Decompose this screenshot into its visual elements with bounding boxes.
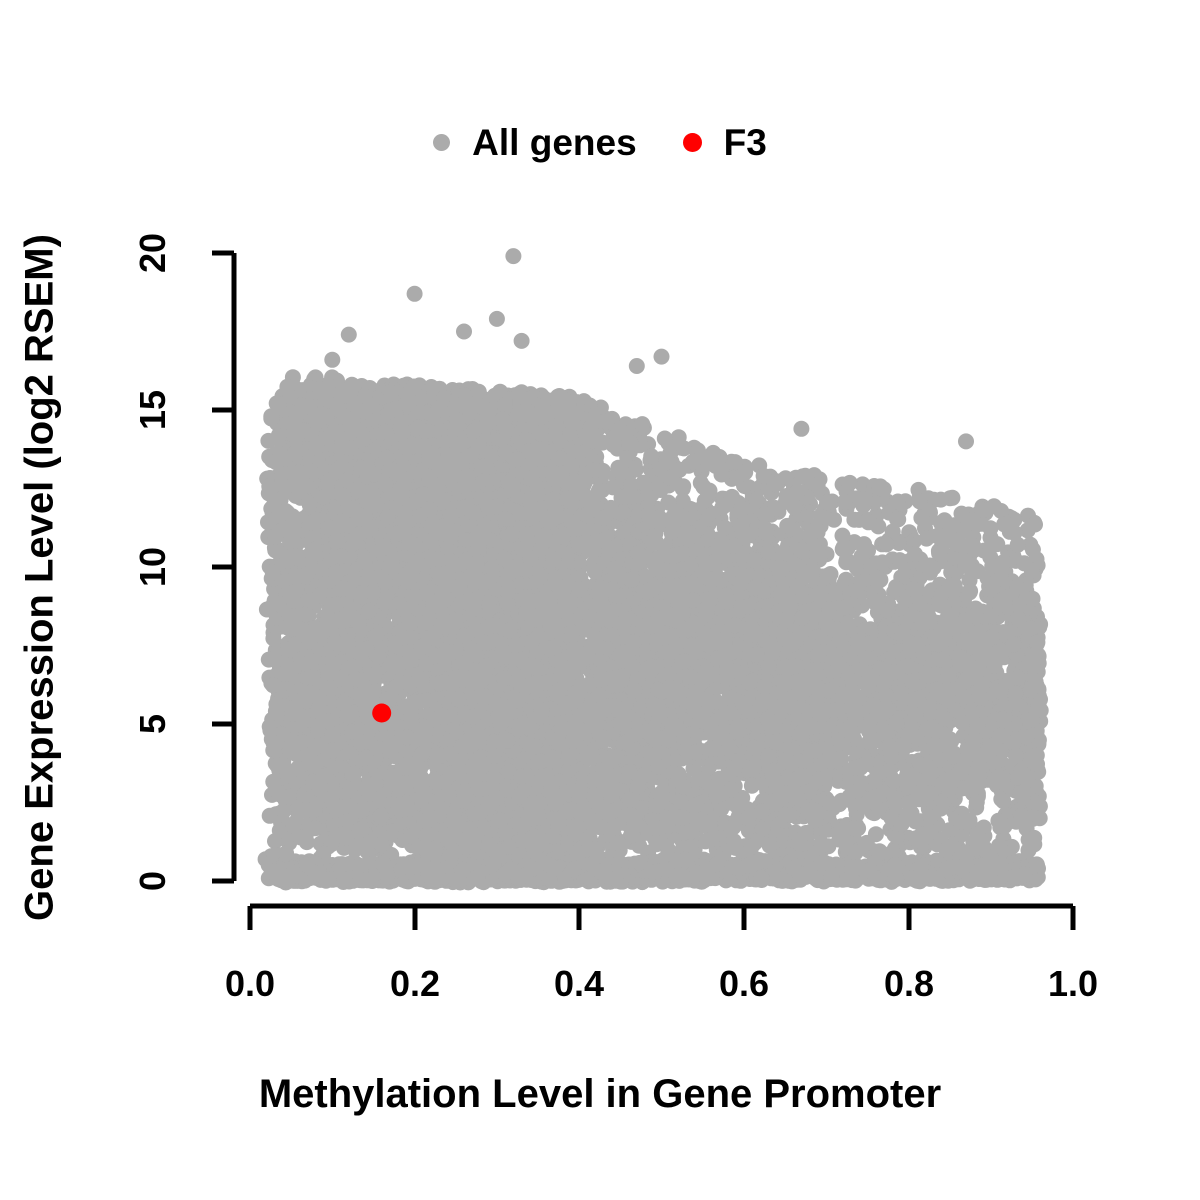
- data-point: [1027, 517, 1043, 533]
- scatter-plot-figure: All genes F3: [0, 0, 1200, 1200]
- data-points-layer: [258, 248, 1049, 890]
- plot-area: 0 5 10 15 20 0.0 0.2 0.4 0.6 0.8 1.0: [0, 0, 1200, 1200]
